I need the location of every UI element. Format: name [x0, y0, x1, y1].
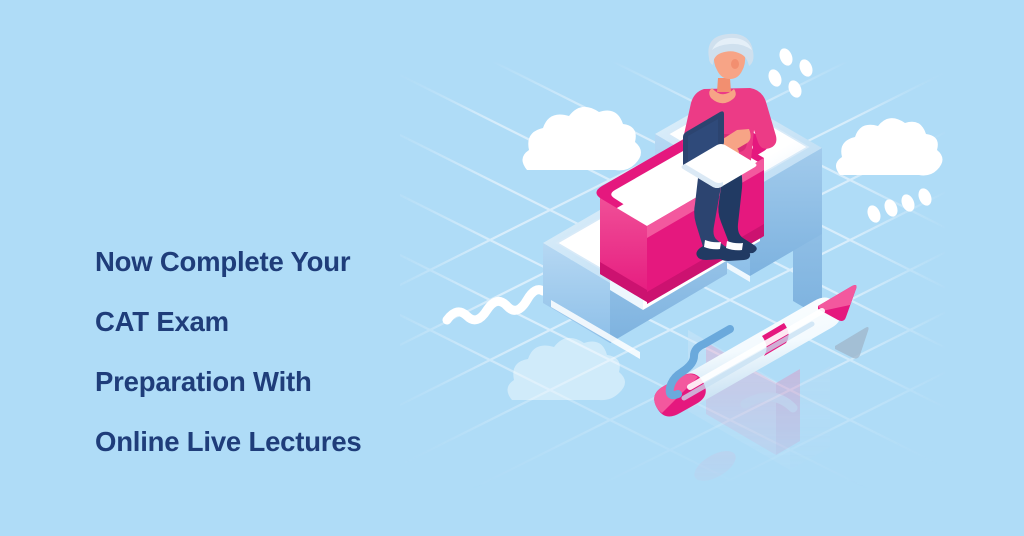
headline-line-4: Online Live Lectures	[95, 412, 435, 472]
headline-line-1: Now Complete Your	[95, 232, 435, 292]
promo-banner: Now Complete Your CAT Exam Preparation W…	[0, 0, 1024, 536]
headline-line-2: CAT Exam	[95, 292, 435, 352]
headline-line-3: Preparation With	[95, 352, 435, 412]
page-title: Now Complete Your CAT Exam Preparation W…	[95, 232, 435, 472]
